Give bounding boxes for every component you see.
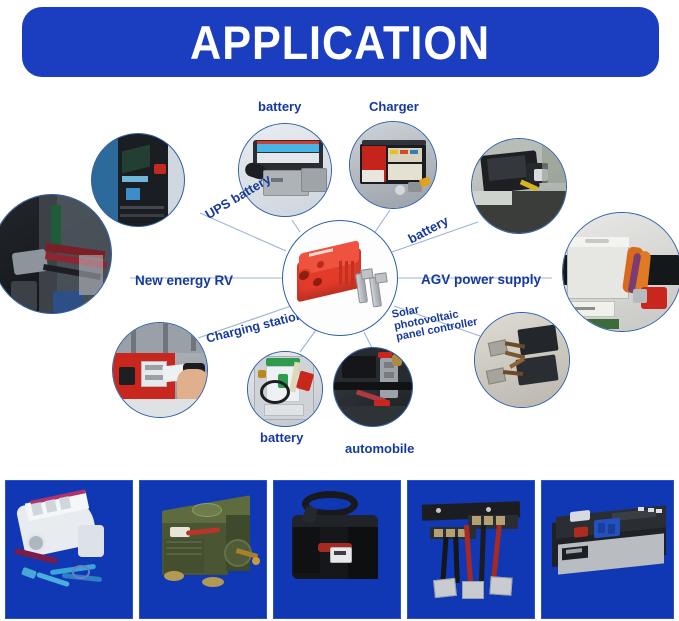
header-banner: APPLICATION <box>22 7 659 77</box>
label-automobile: automobile <box>345 442 414 456</box>
label-battery-bottom: battery <box>260 431 303 445</box>
car-underhood-photo <box>334 348 412 426</box>
label-battery-top: battery <box>258 100 301 114</box>
battery-cabinet-photo <box>248 352 322 426</box>
label-charger: Charger <box>369 100 419 114</box>
node-charging-station[interactable] <box>112 322 208 418</box>
node-agv-power-supply[interactable] <box>562 212 679 332</box>
vehicle-battery-photo <box>472 139 566 233</box>
node-solar-pv-controller[interactable] <box>474 312 570 408</box>
label-new-energy-rv: New energy RV <box>135 274 233 288</box>
strip-item-battery-module-harness[interactable] <box>5 480 133 619</box>
node-battery-right[interactable] <box>471 138 567 234</box>
charger-unit-photo <box>350 122 436 208</box>
hub-product-node[interactable] <box>282 220 398 336</box>
node-charger[interactable] <box>349 121 437 209</box>
equipment-bag-photo <box>274 481 400 618</box>
strip-item-busbar-cable-assembly[interactable] <box>407 480 535 619</box>
green-power-box-photo <box>140 481 266 618</box>
strip-item-black-equipment-bag[interactable] <box>273 480 401 619</box>
node-battery-top[interactable] <box>238 123 332 217</box>
application-page: APPLICATION <box>0 0 679 621</box>
application-diagram: battery Charger <box>0 82 679 472</box>
strip-item-military-green-power-box[interactable] <box>139 480 267 619</box>
agv-supply-box-photo <box>563 213 679 331</box>
solar-connectors-photo <box>475 313 569 407</box>
page-title: APPLICATION <box>190 19 490 66</box>
node-battery-bottom[interactable] <box>247 351 323 427</box>
rv-battery-bay-photo <box>0 195 111 313</box>
charging-plug-photo <box>113 323 207 417</box>
busbar-cable-photo <box>408 481 534 618</box>
battery-pack-photo <box>239 124 331 216</box>
label-agv-power-supply: AGV power supply <box>421 273 541 287</box>
battery-module-harness-photo <box>6 481 132 618</box>
inverter-panel-photo <box>542 481 673 618</box>
strip-item-inverter-panel[interactable] <box>541 480 674 619</box>
node-new-energy-rv[interactable] <box>0 194 112 314</box>
product-photo-strip <box>0 480 679 621</box>
node-automobile[interactable] <box>333 347 413 427</box>
